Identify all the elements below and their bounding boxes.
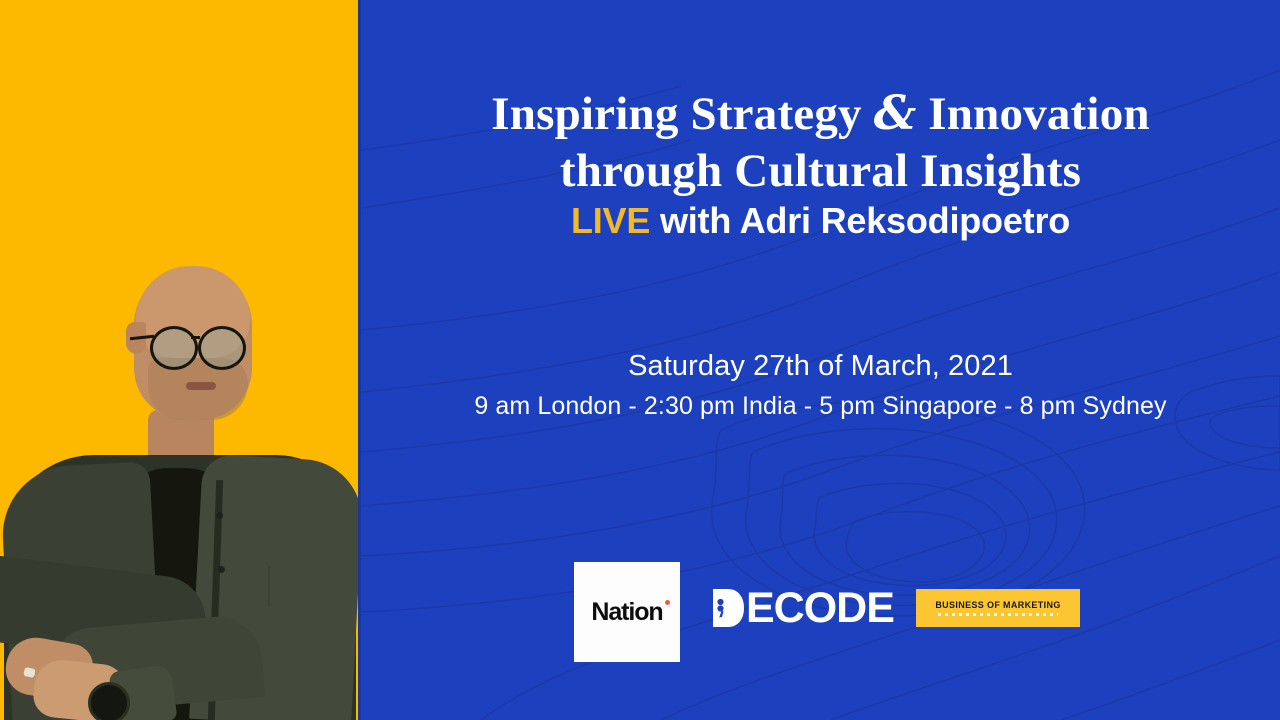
- decode-d-semicolon-icon: [711, 586, 745, 630]
- dotted-underline: [938, 613, 1058, 616]
- speaker-shirt-pocket: [268, 566, 322, 606]
- event-timezones: 9 am London - 2:30 pm India - 5 pm Singa…: [361, 392, 1280, 421]
- shirt-button: [216, 512, 223, 519]
- speaker-mouth: [186, 382, 216, 390]
- live-with-speaker: with Adri Reksodipoetro: [650, 200, 1070, 241]
- glasses-bridge: [191, 336, 200, 339]
- sponsor-logo-row: Nation ECODE BUSINESS OF MARKETING: [361, 560, 1280, 670]
- speaker-panel: [0, 0, 358, 720]
- live-badge-text: LIVE: [571, 200, 650, 241]
- business-of-marketing-badge[interactable]: BUSINESS OF MARKETING: [916, 589, 1080, 627]
- glasses-left-lens: [150, 326, 198, 370]
- shirt-button: [218, 566, 225, 573]
- event-date: Saturday 27th of March, 2021: [361, 350, 1280, 383]
- nation-logo-text: Nation: [591, 598, 662, 626]
- glasses-right-lens: [198, 326, 246, 370]
- decode-logo[interactable]: ECODE: [711, 586, 894, 630]
- webinar-promo-slide: Inspiring Strategy & Innovation through …: [0, 0, 1280, 720]
- headline-line1-part2: Innovation: [916, 88, 1149, 140]
- content-panel: Inspiring Strategy & Innovation through …: [361, 0, 1280, 720]
- decode-logo-text: ECODE: [746, 587, 894, 630]
- headline-line1-part1: Inspiring Strategy: [491, 88, 873, 140]
- speaker-photo: [0, 250, 358, 720]
- speaker-wristwatch: [88, 682, 130, 720]
- page-title: Inspiring Strategy & Innovation through …: [361, 85, 1280, 200]
- live-subtitle: LIVE with Adri Reksodipoetro: [361, 200, 1280, 242]
- nation-dot-icon: [665, 600, 670, 605]
- nation-logo[interactable]: Nation: [574, 562, 680, 662]
- business-of-marketing-label: BUSINESS OF MARKETING: [935, 600, 1060, 610]
- headline-line2: through Cultural Insights: [560, 145, 1081, 197]
- ampersand-glyph: &: [874, 86, 917, 141]
